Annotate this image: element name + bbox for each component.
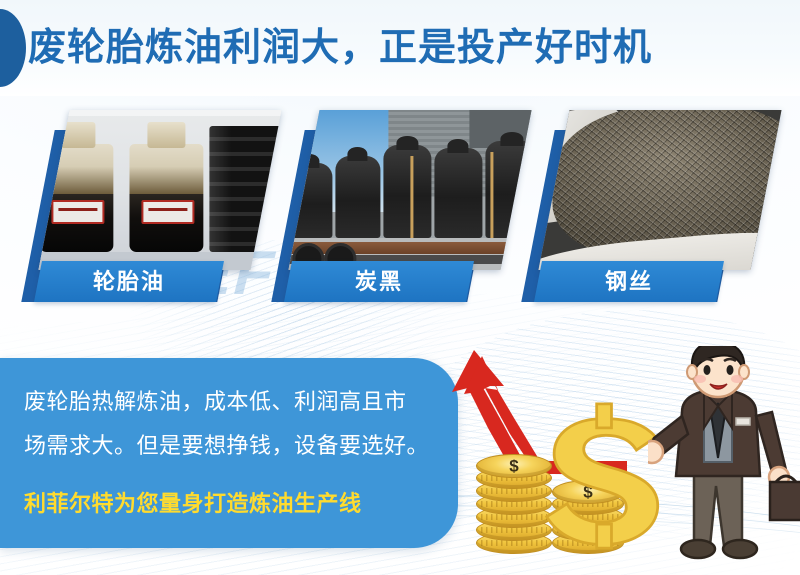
oil-bottle-2: [129, 144, 203, 252]
profit-illustration: $ $: [452, 330, 800, 575]
product-photo-steel-wire: [538, 110, 781, 270]
card-label-text: 轮胎油: [38, 261, 220, 302]
product-card-steel-wire[interactable]: 钢丝: [536, 96, 772, 308]
card-label-text: 钢丝: [538, 261, 720, 302]
promo-banner: LEFILTER 废轮胎炼油利润大，正是投产好时机: [0, 0, 800, 575]
description-line-2: 场需求大。但是要想挣钱，设备要选好。: [24, 428, 429, 460]
description-line-1: 废轮胎热解炼油，成本低、利润高且市: [24, 384, 407, 416]
businessman-illustration: [648, 346, 800, 568]
description-highlight-line: 利菲尔特为您量身打造炼油生产线: [24, 486, 362, 518]
product-photo-tire-oil: [38, 110, 281, 270]
description-panel: 废轮胎热解炼油，成本低、利润高且市 场需求大。但是要想挣钱，设备要选好。 利菲尔…: [0, 358, 458, 548]
product-card-tire-oil[interactable]: 轮胎油: [36, 96, 272, 308]
card-label-text: 炭黑: [288, 261, 470, 302]
tire-stack-image-part: [209, 126, 281, 252]
product-card-carbon-black[interactable]: 炭黑: [286, 96, 522, 308]
page-title: 废轮胎炼油利润大，正是投产好时机: [28, 16, 652, 80]
product-photo-carbon-black: [288, 110, 531, 270]
